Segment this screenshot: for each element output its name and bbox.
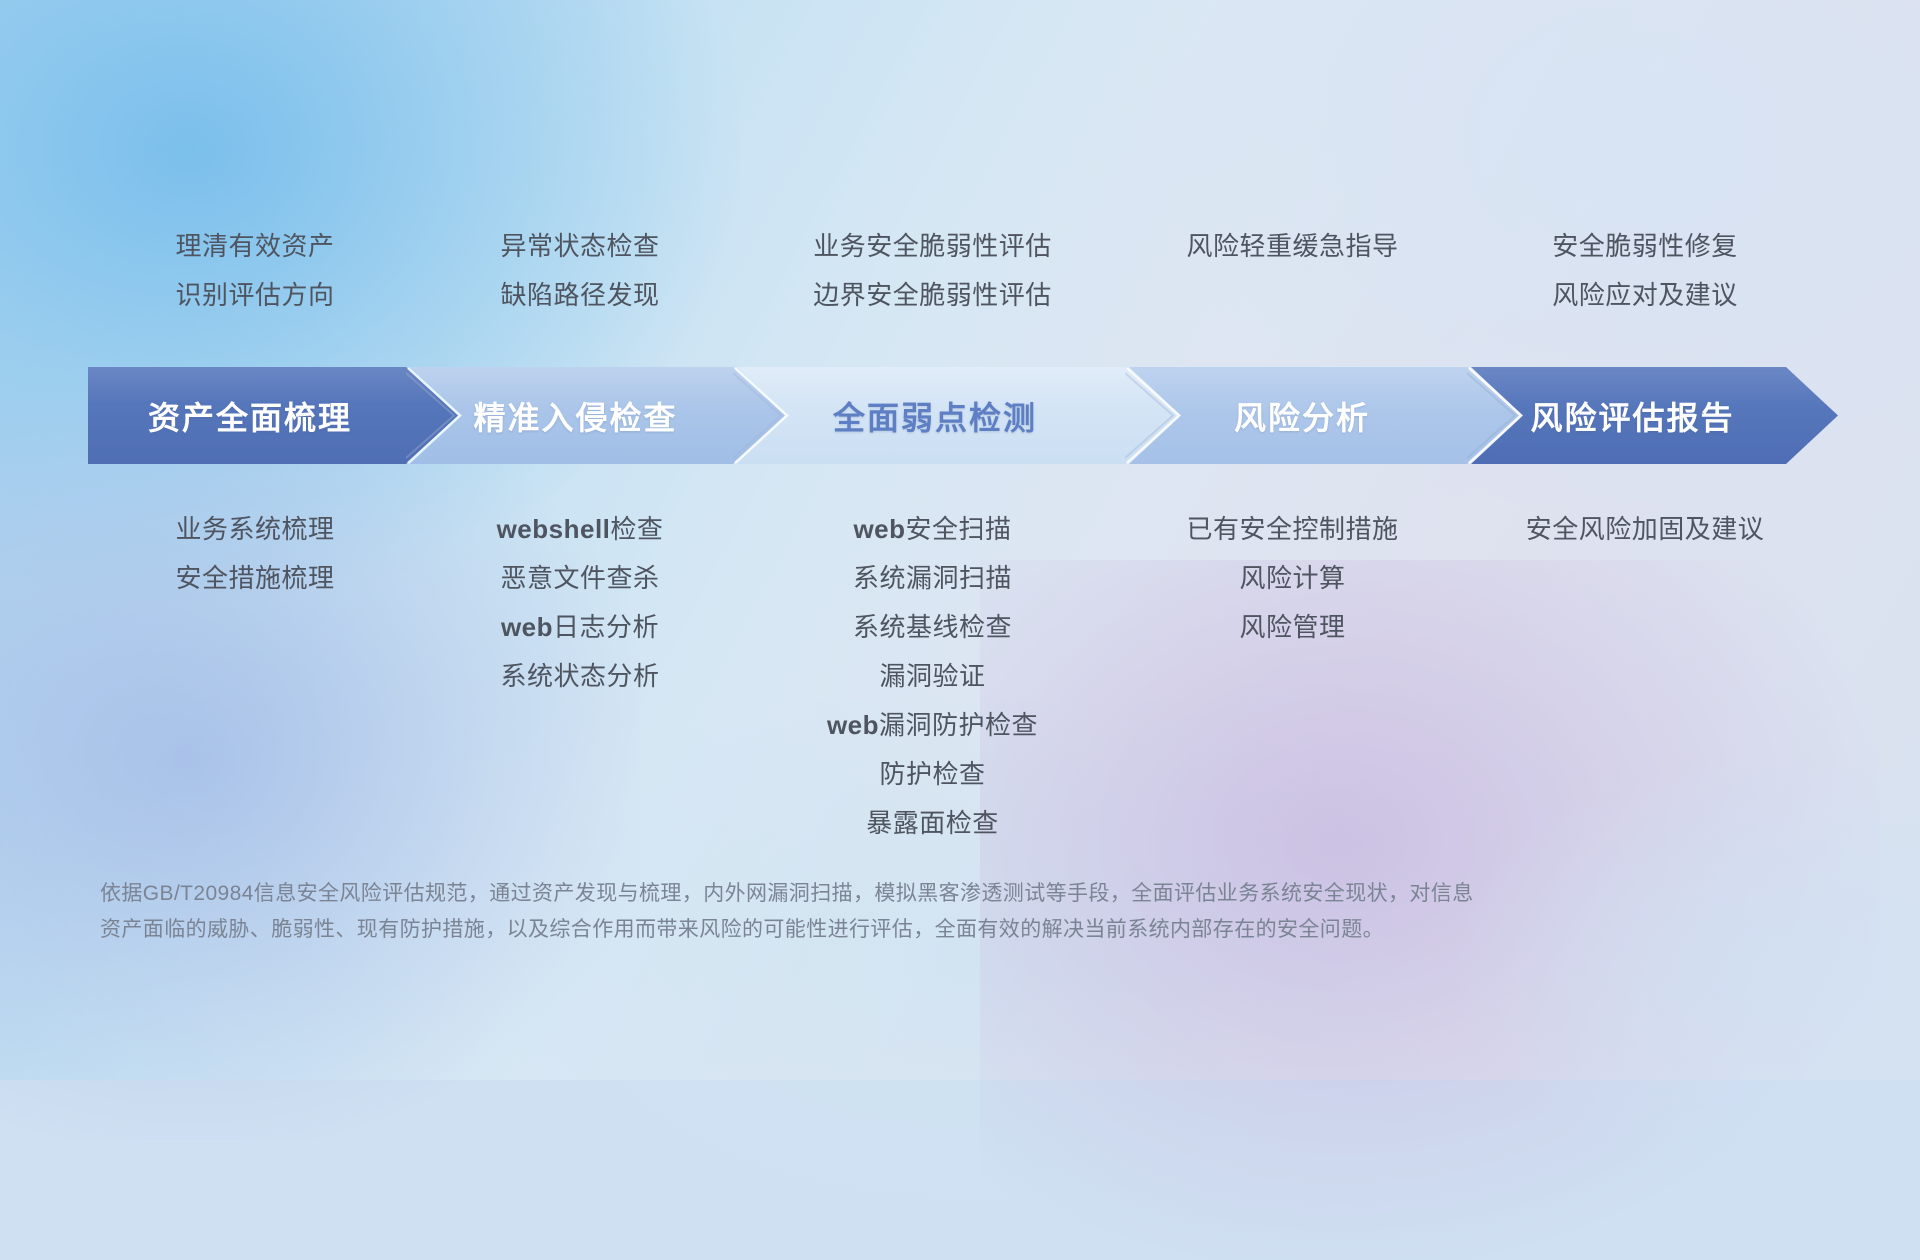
stage-detail-item-text: 防护检查 — [879, 759, 985, 789]
process-stage-label-5: 风险评估报告 — [1530, 393, 1734, 439]
stage-detail-item: web漏洞防护检查 — [827, 701, 1038, 750]
bottom-labels-stage-3: web安全扫描系统漏洞扫描系统基线检查漏洞验证web漏洞防护检查防护检查暴露面检… — [740, 505, 1125, 848]
process-stage-label-2: 精准入侵检查 — [473, 393, 677, 439]
stage-detail-item-text: 风险管理 — [1239, 612, 1345, 642]
stage-detail-item-text: 漏洞验证 — [879, 661, 985, 691]
process-stage-label-4: 风险分析 — [1234, 393, 1370, 439]
process-chevron-bar: 资产全面梳理 精准入侵检查 全面弱点检测 风险分析 风险评估报告 — [88, 367, 1838, 464]
stage-detail-item-text: 暴露面检查 — [866, 808, 999, 838]
stage-detail-item: 安全措施梳理 — [175, 554, 334, 603]
bottom-labels-stage-5: 安全风险加固及建议 — [1460, 505, 1830, 554]
process-stage-chevron-4[interactable]: 风险分析 — [1129, 367, 1519, 464]
stage-detail-item-text: 检查 — [610, 514, 663, 544]
stage-detail-item: 漏洞验证 — [879, 652, 985, 701]
footer-description-line-1: 依据GB/T20984信息安全风险评估规范，通过资产发现与梳理，内外网漏洞扫描，… — [100, 876, 1680, 912]
top-labels-stage-5: 安全脆弱性修复风险应对及建议 — [1460, 222, 1830, 320]
process-stage-label-1: 资产全面梳理 — [148, 393, 352, 439]
stage-detail-item: 安全风险加固及建议 — [1526, 505, 1765, 554]
top-labels-stage-1: 理清有效资产识别评估方向 — [90, 222, 420, 320]
stage-detail-item-text: 边界安全脆弱性评估 — [813, 280, 1052, 310]
top-labels-stage-3: 业务安全脆弱性评估边界安全脆弱性评估 — [740, 222, 1125, 320]
stage-detail-item: 已有安全控制措施 — [1186, 505, 1398, 554]
process-stage-chevron-1[interactable]: 资产全面梳理 — [88, 367, 458, 464]
stage-detail-item: 业务安全脆弱性评估 — [813, 222, 1052, 271]
stage-detail-item-text: 恶意文件查杀 — [500, 563, 659, 593]
stage-detail-item-text: 日志分析 — [553, 612, 659, 642]
top-labels-stage-2: 异常状态检查缺陷路径发现 — [420, 222, 740, 320]
stage-detail-item-text: 业务安全脆弱性评估 — [813, 231, 1052, 261]
stage-detail-item-text: 缺陷路径发现 — [500, 280, 659, 310]
process-stage-chevron-5[interactable]: 风险评估报告 — [1471, 367, 1838, 464]
bottom-labels-stage-1: 业务系统梳理安全措施梳理 — [90, 505, 420, 603]
stage-detail-item: 理清有效资产 — [175, 222, 334, 271]
stage-detail-item: web安全扫描 — [853, 505, 1011, 554]
process-stage-label-3: 全面弱点检测 — [833, 393, 1037, 439]
stage-detail-item-text: 风险计算 — [1239, 563, 1345, 593]
process-stage-chevron-2[interactable]: 精准入侵检查 — [410, 367, 785, 464]
stage-detail-item: 防护检查 — [879, 750, 985, 799]
stage-detail-item-prefix: web — [501, 612, 553, 642]
stage-detail-item: 风险应对及建议 — [1552, 271, 1738, 320]
stage-detail-item: 风险轻重缓急指导 — [1186, 222, 1398, 271]
stage-detail-item-text: 理清有效资产 — [175, 231, 334, 261]
stage-detail-item-text: 系统基线检查 — [853, 612, 1012, 642]
stage-detail-item: 系统漏洞扫描 — [853, 554, 1012, 603]
risk-assessment-process-diagram: 理清有效资产识别评估方向 异常状态检查缺陷路径发现 业务安全脆弱性评估边界安全脆… — [0, 0, 1920, 1080]
top-labels-stage-4: 风险轻重缓急指导 — [1125, 222, 1460, 271]
stage-detail-item-text: 识别评估方向 — [175, 280, 334, 310]
stage-detail-item: 系统状态分析 — [500, 652, 659, 701]
stage-detail-item-prefix: web — [827, 710, 879, 740]
bottom-labels-stage-4: 已有安全控制措施风险计算风险管理 — [1125, 505, 1460, 652]
stage-detail-item: 风险计算 — [1239, 554, 1345, 603]
footer-description: 依据GB/T20984信息安全风险评估规范，通过资产发现与梳理，内外网漏洞扫描，… — [100, 876, 1680, 948]
stage-detail-item: 异常状态检查 — [500, 222, 659, 271]
stage-detail-item: 边界安全脆弱性评估 — [813, 271, 1052, 320]
footer-description-line-2: 资产面临的威胁、脆弱性、现有防护措施，以及综合作用而带来风险的可能性进行评估，全… — [100, 912, 1680, 948]
stage-detail-item: 识别评估方向 — [175, 271, 334, 320]
stage-detail-item-text: 安全扫描 — [906, 514, 1012, 544]
stage-detail-item: 风险管理 — [1239, 603, 1345, 652]
bottom-label-row: 业务系统梳理安全措施梳理 webshell检查恶意文件查杀web日志分析系统状态… — [90, 505, 1830, 848]
stage-detail-item-text: 风险轻重缓急指导 — [1186, 231, 1398, 261]
stage-detail-item-text: 业务系统梳理 — [175, 514, 334, 544]
stage-detail-item-text: 系统状态分析 — [500, 661, 659, 691]
stage-detail-item-text: 异常状态检查 — [500, 231, 659, 261]
stage-detail-item: 恶意文件查杀 — [500, 554, 659, 603]
stage-detail-item-text: 系统漏洞扫描 — [853, 563, 1012, 593]
stage-detail-item-prefix: webshell — [497, 514, 611, 544]
stage-detail-item-prefix: web — [853, 514, 905, 544]
stage-detail-item: 系统基线检查 — [853, 603, 1012, 652]
stage-detail-item: web日志分析 — [501, 603, 659, 652]
stage-detail-item-text: 安全风险加固及建议 — [1526, 514, 1765, 544]
top-label-row: 理清有效资产识别评估方向 异常状态检查缺陷路径发现 业务安全脆弱性评估边界安全脆… — [90, 222, 1830, 342]
stage-detail-item: 安全脆弱性修复 — [1552, 222, 1738, 271]
process-stage-chevron-3[interactable]: 全面弱点检测 — [737, 367, 1177, 464]
stage-detail-item-text: 安全脆弱性修复 — [1552, 231, 1738, 261]
stage-detail-item: webshell检查 — [497, 505, 664, 554]
stage-detail-item-text: 安全措施梳理 — [175, 563, 334, 593]
stage-detail-item: 业务系统梳理 — [175, 505, 334, 554]
stage-detail-item-text: 风险应对及建议 — [1552, 280, 1738, 310]
bottom-labels-stage-2: webshell检查恶意文件查杀web日志分析系统状态分析 — [420, 505, 740, 701]
stage-detail-item: 缺陷路径发现 — [500, 271, 659, 320]
stage-detail-item-text: 漏洞防护检查 — [879, 710, 1038, 740]
stage-detail-item: 暴露面检查 — [866, 799, 999, 848]
stage-detail-item-text: 已有安全控制措施 — [1186, 514, 1398, 544]
